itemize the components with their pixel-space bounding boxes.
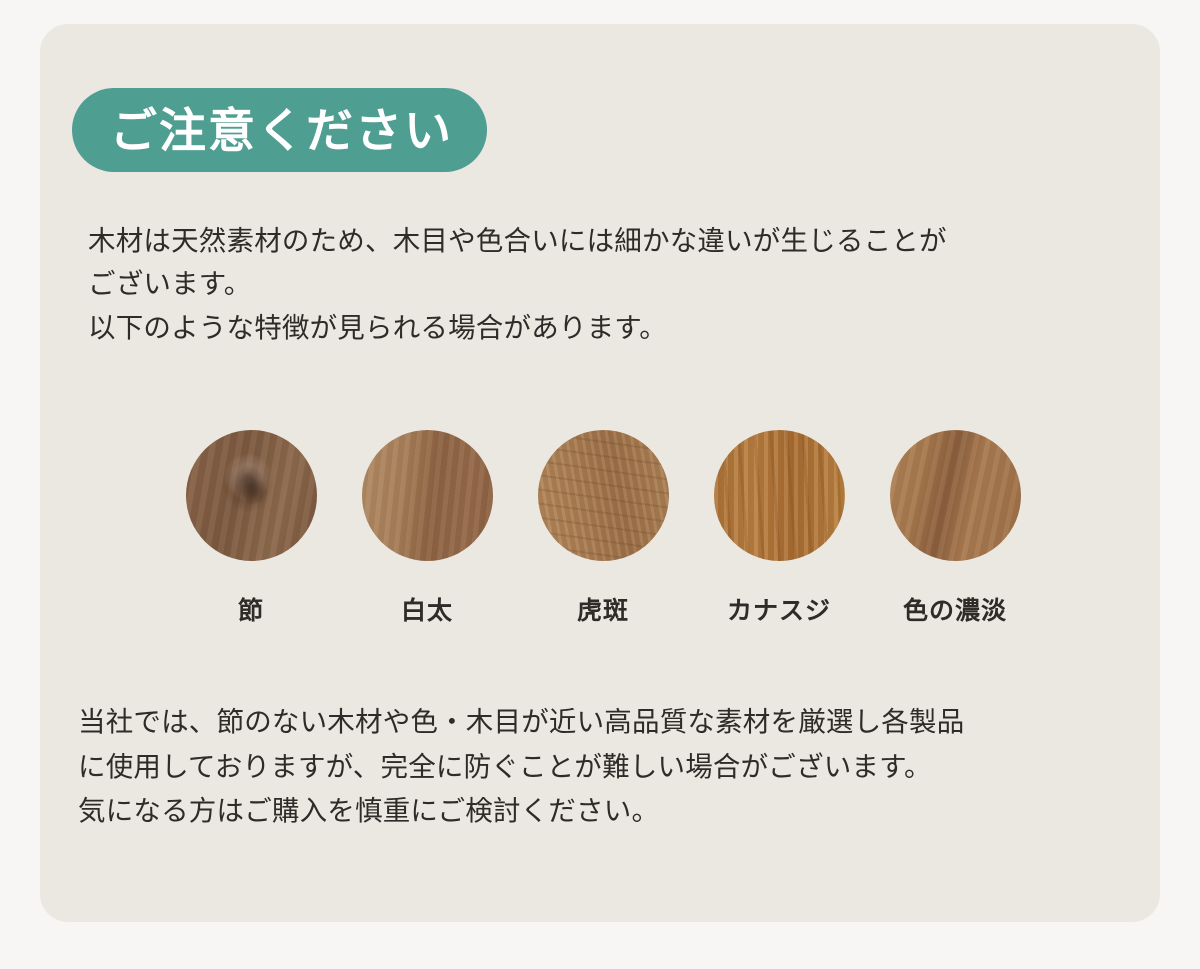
wood-swatch-shirata-image <box>362 430 493 561</box>
wood-swatch-torafu-image <box>538 430 669 561</box>
wood-grain-overlay <box>186 430 317 561</box>
lead-line-2: ございます。 <box>88 262 1108 305</box>
wood-swatch-fushi-image <box>186 430 317 561</box>
lead-paragraph: 木材は天然素材のため、木目や色合いには細かな違いが生じることが ございます。 以… <box>88 219 1108 349</box>
wood-grain-overlay <box>714 430 845 561</box>
wood-swatch-label: 色の濃淡 <box>903 591 1007 627</box>
wood-grain-overlay <box>538 430 669 561</box>
wood-swatch-item: カナスジ <box>711 430 847 627</box>
wood-swatch-item: 色の濃淡 <box>887 430 1023 627</box>
footer-line-1: 当社では、節のない木材や色・木目が近い高品質な素材を厳選し各製品 <box>78 700 1138 745</box>
page-root: ご注意ください 木材は天然素材のため、木目や色合いには細かな違いが生じることが … <box>0 0 1200 969</box>
wood-swatch-label: 虎斑 <box>577 591 629 627</box>
wood-swatch-irononoutan-image <box>890 430 1021 561</box>
notice-badge-label: ご注意ください <box>110 107 453 154</box>
wood-grain-overlay <box>362 430 493 561</box>
wood-swatch-list: 節 白太 虎斑 カナスジ 色の濃淡 <box>183 430 1023 627</box>
footer-line-3: 気になる方はご購入を慎重にご検討ください。 <box>78 789 1138 834</box>
notice-badge: ご注意ください <box>72 88 487 172</box>
wood-swatch-kanasuji-image <box>714 430 845 561</box>
wood-grain-overlay <box>890 430 1021 561</box>
wood-swatch-label: 節 <box>238 591 264 627</box>
wood-swatch-item: 白太 <box>359 430 495 627</box>
wood-swatch-label: カナスジ <box>727 591 831 627</box>
footer-line-2: に使用しておりますが、完全に防ぐことが難しい場合がございます。 <box>78 745 1138 790</box>
wood-swatch-item: 節 <box>183 430 319 627</box>
lead-line-1: 木材は天然素材のため、木目や色合いには細かな違いが生じることが <box>88 219 1108 262</box>
lead-line-3: 以下のような特徴が見られる場合があります。 <box>88 306 1108 349</box>
wood-swatch-label: 白太 <box>401 591 453 627</box>
wood-swatch-item: 虎斑 <box>535 430 671 627</box>
footer-paragraph: 当社では、節のない木材や色・木目が近い高品質な素材を厳選し各製品 に使用しており… <box>78 700 1138 834</box>
